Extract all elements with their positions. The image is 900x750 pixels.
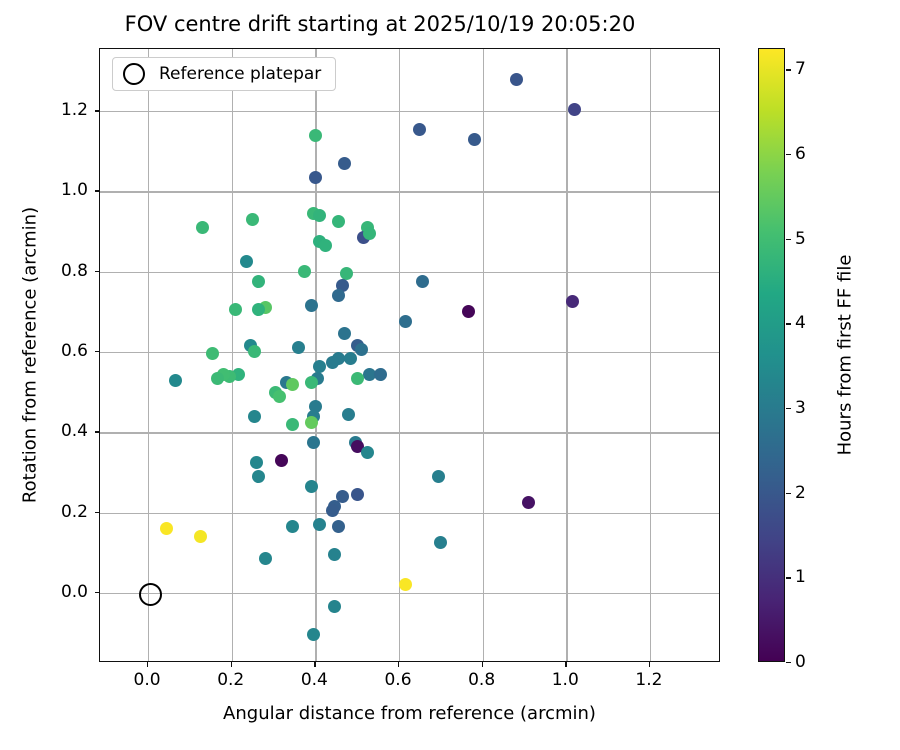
scatter-point (432, 470, 445, 483)
x-tick-6 (649, 662, 650, 667)
x-tick-1 (231, 662, 232, 667)
y-axis-label: Rotation from reference (arcmin) (20, 207, 41, 503)
scatter-point (319, 239, 332, 252)
colorbar-tick-5 (786, 239, 791, 240)
scatter-point (462, 305, 475, 318)
scatter-point (338, 327, 351, 340)
scatter-point (229, 303, 242, 316)
colorbar-tick-label-4: 4 (795, 313, 806, 333)
x-tick-0 (147, 662, 148, 667)
scatter-point (510, 73, 523, 86)
scatter-point (328, 548, 341, 561)
colorbar-tick-6 (786, 154, 791, 155)
scatter-point (332, 215, 345, 228)
y-tick-label-5: 1.0 (61, 180, 88, 200)
scatter-point (252, 470, 265, 483)
scatter-point (194, 530, 207, 543)
scatter-point (305, 299, 318, 312)
y-tick-4 (95, 271, 100, 272)
y-tick-3 (95, 351, 100, 352)
x-tick-label-3: 0.6 (384, 670, 411, 690)
y-tick-6 (95, 110, 100, 111)
scatter-point (361, 446, 374, 459)
colorbar-title: Hours from first FF file (835, 255, 856, 456)
scatter-point (259, 552, 272, 565)
colorbar-tick-label-6: 6 (795, 144, 806, 164)
scatter-point (309, 171, 322, 184)
scatter-point (413, 123, 426, 136)
scatter-point (286, 520, 299, 533)
reference-platepar-marker-icon (123, 63, 145, 85)
y-tick-label-3: 0.6 (61, 341, 88, 361)
scatter-point (351, 488, 364, 501)
x-tick-2 (314, 662, 315, 667)
x-tick-label-0: 0.0 (134, 670, 161, 690)
scatter-point (309, 129, 322, 142)
colorbar-tick-2 (786, 493, 791, 494)
scatter-point (332, 520, 345, 533)
scatter-point (313, 360, 326, 373)
x-tick-label-2: 0.4 (301, 670, 328, 690)
scatter-point (248, 410, 261, 423)
y-tick-label-6: 1.2 (61, 100, 88, 120)
scatter-point (250, 456, 263, 469)
scatter-point (273, 390, 286, 403)
colorbar-tick-4 (786, 323, 791, 324)
scatter-point (252, 303, 265, 316)
legend: Reference platepar (112, 57, 336, 91)
scatter-point (206, 347, 219, 360)
colorbar-tick-1 (786, 577, 791, 578)
x-tick-5 (565, 662, 566, 667)
scatter-point (292, 341, 305, 354)
colorbar-tick-label-1: 1 (795, 567, 806, 587)
scatter-point (307, 436, 320, 449)
scatter-point (160, 522, 173, 535)
chart-title: FOV centre drift starting at 2025/10/19 … (0, 12, 760, 36)
colorbar-tick-label-3: 3 (795, 398, 806, 418)
scatter-point (298, 265, 311, 278)
colorbar-tick-0 (786, 662, 791, 663)
colorbar-tick-7 (786, 69, 791, 70)
colorbar-tick-label-2: 2 (795, 483, 806, 503)
scatter-point (326, 356, 339, 369)
x-tick-label-4: 0.8 (468, 670, 495, 690)
y-tick-5 (95, 190, 100, 191)
scatter-point (246, 213, 259, 226)
scatter-point (196, 221, 209, 234)
scatter-point (313, 518, 326, 531)
legend-entry-label: Reference platepar (159, 64, 321, 84)
scatter-point (252, 275, 265, 288)
colorbar-tick-label-0: 0 (795, 652, 806, 672)
scatter-point (338, 157, 351, 170)
scatter-point (374, 368, 387, 381)
scatter-point (399, 315, 412, 328)
scatter-point (434, 536, 447, 549)
scatter-point (211, 372, 224, 385)
y-tick-label-4: 0.8 (61, 261, 88, 281)
scatter-point (307, 628, 320, 641)
scatter-point (328, 600, 341, 613)
x-tick-label-5: 1.0 (552, 670, 579, 690)
scatter-point (568, 103, 581, 116)
scatter-point (340, 267, 353, 280)
colorbar-tick-label-5: 5 (795, 229, 806, 249)
x-tick-4 (482, 662, 483, 667)
y-tick-1 (95, 512, 100, 513)
scatter-point (286, 378, 299, 391)
plot-axes (99, 48, 720, 662)
x-axis-label: Angular distance from reference (arcmin) (99, 703, 720, 724)
colorbar-tick-3 (786, 408, 791, 409)
scatter-point (522, 496, 535, 509)
colorbar (758, 48, 785, 662)
scatter-point (351, 372, 364, 385)
scatter-point (468, 133, 481, 146)
scatter-point (240, 255, 253, 268)
scatter-plot-area (100, 49, 719, 661)
scatter-point (275, 454, 288, 467)
y-tick-label-1: 0.2 (61, 502, 88, 522)
scatter-point (169, 374, 182, 387)
scatter-point (342, 408, 355, 421)
colorbar-tick-label-7: 7 (795, 59, 806, 79)
x-tick-label-1: 0.2 (217, 670, 244, 690)
scatter-point (305, 480, 318, 493)
y-tick-0 (95, 592, 100, 593)
scatter-point (416, 275, 429, 288)
scatter-point (305, 376, 318, 389)
scatter-point (399, 578, 412, 591)
scatter-point (332, 289, 345, 302)
scatter-point (566, 295, 579, 308)
y-tick-2 (95, 431, 100, 432)
scatter-point (355, 343, 368, 356)
y-tick-label-2: 0.4 (61, 421, 88, 441)
y-tick-label-0: 0.0 (61, 582, 88, 602)
scatter-point (326, 504, 339, 517)
scatter-point (313, 209, 326, 222)
scatter-point (363, 227, 376, 240)
scatter-point (305, 416, 318, 429)
x-tick-label-6: 1.2 (635, 670, 662, 690)
reference-platepar-point (139, 583, 162, 606)
scatter-point (344, 352, 357, 365)
scatter-point (286, 418, 299, 431)
scatter-point (248, 345, 261, 358)
x-tick-3 (398, 662, 399, 667)
